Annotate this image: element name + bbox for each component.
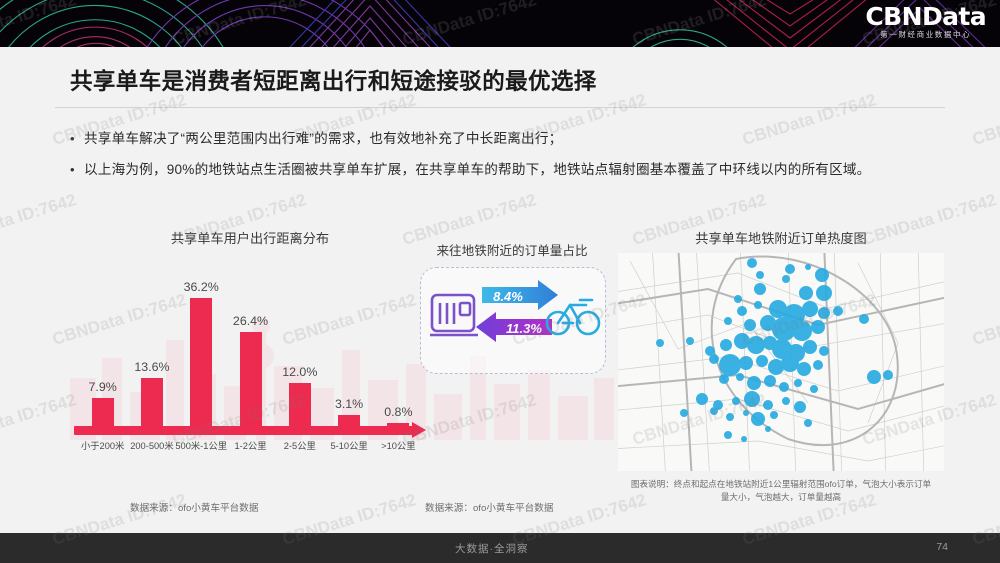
banner-decoration (0, 0, 1000, 47)
bar (141, 378, 163, 426)
bar-value-label: 13.6% (134, 360, 169, 374)
cbndata-logo: CBNData 第一财经商业数据中心 (865, 3, 986, 40)
x-tick-label: 1-2公里 (234, 438, 266, 452)
bullet-list: • 共享单车解决了“两公里范围内出行难”的需求，也有效地补充了中长距离出行； •… (70, 128, 940, 190)
footer-page-number: 74 (936, 541, 948, 553)
bullet-item: • 以上海为例，90%的地铁站点生活圈被共享单车扩展，在共享单车的帮助下，地铁站… (70, 159, 940, 181)
bar (240, 332, 262, 426)
footer-bar: 大数据·全洞察 74 (0, 533, 1000, 563)
chart-title: 共享单车用户出行距离分布 (60, 228, 440, 247)
slide-root: CBNData 第一财经商业数据中心 共享单车是消费者短距离出行和短途接驳的最优… (0, 0, 1000, 563)
bullet-text: 共享单车解决了“两公里范围内出行难”的需求，也有效地补充了中长距离出行； (84, 128, 562, 150)
mid-panel-title: 来往地铁附近的订单量占比 (412, 240, 612, 259)
map-svg (618, 253, 944, 471)
bullet-text: 以上海为例，90%的地铁站点生活圈被共享单车扩展，在共享单车的帮助下，地铁站点辐… (84, 159, 870, 181)
x-tick-label: 2-5公里 (284, 438, 316, 452)
bar (338, 415, 360, 426)
bar-value-label: 0.8% (384, 405, 412, 419)
logo-subtitle: 第一财经商业数据中心 (865, 30, 986, 40)
metro-icon (430, 295, 478, 335)
bar-value-label: 7.9% (89, 380, 117, 394)
bicycle-icon (547, 300, 599, 334)
bullet-item: • 共享单车解决了“两公里范围内出行难”的需求，也有效地补充了中长距离出行； (70, 128, 940, 150)
title-divider (55, 107, 945, 108)
chart-x-axis (74, 426, 414, 435)
bar-value-label: 12.0% (282, 365, 317, 379)
metro-heatmap-panel: 共享单车地铁附近订单热度图 (618, 228, 944, 476)
watermark-text: CBNData ID:7642 (970, 90, 1000, 150)
bullet-marker-icon: • (70, 159, 84, 181)
chart-plot-area: 7.9%13.6%36.2%26.4%12.0%3.1%0.8% (78, 258, 423, 426)
mid-panel-source-note: 数据来源：ofo小黄车平台数据 (425, 500, 553, 514)
bar (190, 298, 212, 427)
top-banner: CBNData 第一财经商业数据中心 (0, 0, 1000, 47)
arrow-left-to-metro: 11.3% (476, 312, 552, 342)
arrow-left-label: 11.3% (506, 321, 542, 336)
arrow-right-to-bike: 8.4% (482, 280, 558, 310)
chart-source-note: 数据来源：ofo小黄车平台数据 (130, 500, 258, 514)
x-tick-label: 5-10公里 (330, 438, 367, 452)
footer-tagline: 大数据·全洞察 (455, 541, 529, 556)
arrow-right-label: 8.4% (493, 289, 523, 304)
bar-value-label: 3.1% (335, 397, 363, 411)
page-title: 共享单车是消费者短距离出行和短途接驳的最优选择 (70, 64, 930, 96)
bar (289, 383, 311, 426)
axis-arrow-icon (412, 422, 426, 438)
x-tick-label: 500米-1公里 (175, 438, 227, 452)
bullet-marker-icon: • (70, 128, 84, 150)
map-caption: 图表说明：终点和起点在地铁站附近1公里辐射范围ofo订单，气泡大小表示订单量大小… (628, 478, 934, 503)
x-tick-label: 200-500米 (130, 438, 173, 452)
map-title: 共享单车地铁附近订单热度图 (618, 228, 944, 247)
metro-order-share-panel: 来往地铁附近的订单量占比 (412, 240, 612, 380)
distance-distribution-chart: 共享单车用户出行距离分布 7.9%13.6%36.2%26.4%12.0%3.1… (60, 228, 440, 448)
bar (92, 398, 114, 426)
bar-value-label: 26.4% (233, 314, 268, 328)
logo-wordmark: CBNData (865, 3, 986, 30)
x-tick-label: 小于200米 (81, 438, 124, 452)
watermark-text: CBNData ID:7642 (970, 290, 1000, 350)
x-tick-label: >10公里 (381, 438, 415, 452)
bar-value-label: 36.2% (184, 280, 219, 294)
map-image (618, 253, 944, 471)
chart-x-tick-labels: 小于200米200-500米500米-1公里1-2公里2-5公里5-10公里>1… (68, 438, 428, 454)
metro-bike-diagram: 8.4% 11.3% (420, 267, 604, 372)
